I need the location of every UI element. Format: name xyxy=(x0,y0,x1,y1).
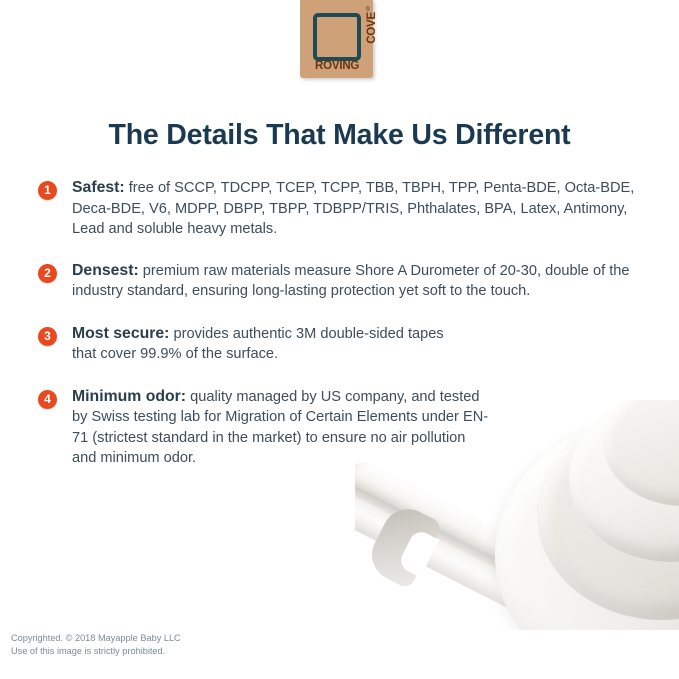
logo-square-outline xyxy=(313,13,361,61)
list-item-body: premium raw materials measure Shore A Du… xyxy=(72,263,629,300)
list-item-number-badge: 1 xyxy=(38,181,57,200)
list-item-lead: Densest: xyxy=(72,262,139,279)
copyright-line-2: Use of this image is strictly prohibited… xyxy=(11,645,181,658)
logo-wordmark-roving: ROVING xyxy=(315,61,359,73)
logo-wordmark-cove: COVE xyxy=(367,12,379,44)
list-item-text: Most secure: provides authentic 3M doubl… xyxy=(72,324,472,365)
registered-trademark-icon: ® xyxy=(366,7,370,13)
copyright-line-1: Copyrighted. © 2018 Mayapple Baby LLC xyxy=(11,632,181,645)
list-item-text: Safest: free of SCCP, TDCPP, TCEP, TCPP,… xyxy=(72,178,638,240)
list-item-body: free of SCCP, TDCPP, TCEP, TCPP, TBB, TB… xyxy=(72,180,634,237)
list-item-text: Densest: premium raw materials measure S… xyxy=(72,261,638,302)
list-item-number-badge: 3 xyxy=(38,327,57,346)
list-item-lead: Most secure: xyxy=(72,325,169,342)
brand-logo-tile: ROVING COVE ® xyxy=(300,0,373,78)
list-item: 2 Densest: premium raw materials measure… xyxy=(38,261,638,302)
list-item: 1 Safest: free of SCCP, TDCPP, TCEP, TCP… xyxy=(38,178,638,240)
list-item-lead: Minimum odor: xyxy=(72,388,186,405)
copyright-footer: Copyrighted. © 2018 Mayapple Baby LLC Us… xyxy=(11,632,181,657)
list-item-number-badge: 4 xyxy=(38,390,57,409)
page-title: The Details That Make Us Different xyxy=(0,119,679,152)
list-item-lead: Safest: xyxy=(72,179,125,196)
list-item: 3 Most secure: provides authentic 3M dou… xyxy=(38,324,638,365)
product-photo-edge-guard xyxy=(355,400,679,630)
list-item-number-badge: 2 xyxy=(38,264,57,283)
